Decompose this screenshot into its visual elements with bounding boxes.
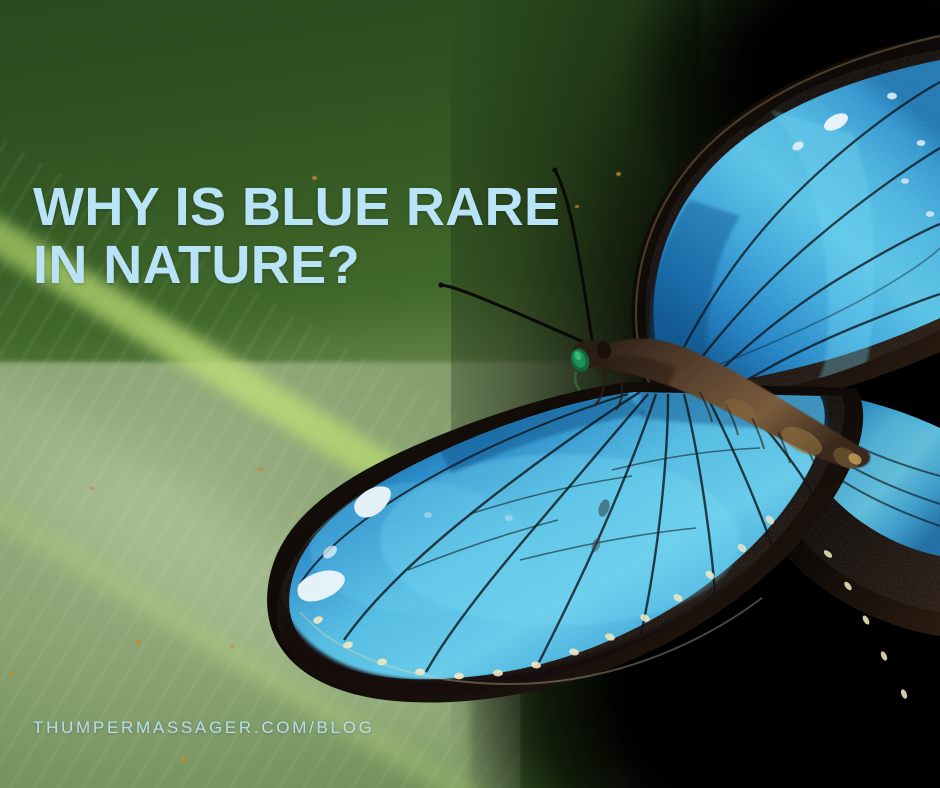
social-share-image-card: WHY IS BLUE RARE IN NATURE? THUMPERMASSA…: [0, 0, 940, 788]
dark-background-bottom-right: [470, 489, 940, 788]
site-url-label: THUMPERMASSAGER.COM/BLOG: [33, 718, 375, 738]
leaf-speck: [180, 757, 186, 762]
leaf-speck: [9, 672, 14, 676]
page-title: WHY IS BLUE RARE IN NATURE?: [33, 178, 673, 294]
leaf-speck: [616, 172, 621, 176]
leaf-speck: [258, 467, 263, 471]
leaf-speck: [230, 645, 234, 648]
leaf-background-photo: [0, 0, 940, 788]
leaf-speck: [90, 487, 94, 490]
leaf-speck: [135, 640, 141, 645]
